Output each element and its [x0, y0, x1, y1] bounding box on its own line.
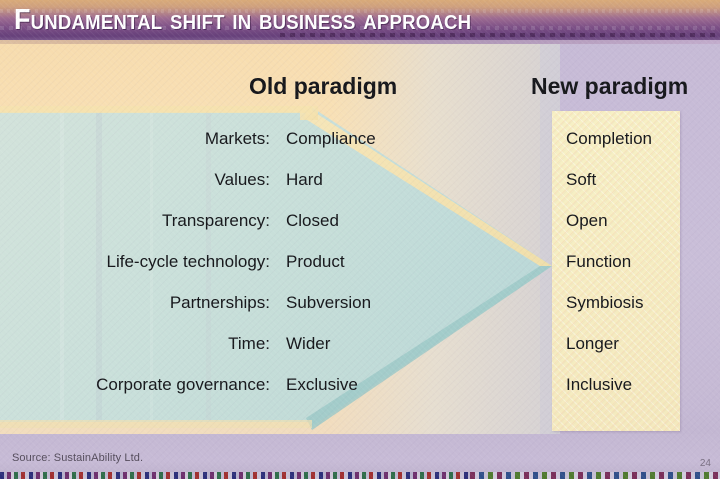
- page-number: 24: [700, 458, 711, 469]
- old-value: Subversion: [286, 282, 371, 323]
- row-label: Values:: [18, 159, 270, 200]
- row-label: Markets:: [18, 118, 270, 159]
- new-value: Inclusive: [566, 375, 632, 394]
- old-value: Compliance: [286, 118, 376, 159]
- old-paradigm-table: Markets: Compliance Values: Hard Transpa…: [18, 118, 438, 405]
- table-row: Function: [566, 241, 716, 282]
- new-paradigm-table: Completion Soft Open Function Symbiosis …: [566, 118, 716, 405]
- bottom-color-strip-right: [470, 472, 720, 479]
- old-value: Closed: [286, 200, 339, 241]
- old-value: Wider: [286, 323, 330, 364]
- row-label: Partnerships:: [18, 282, 270, 323]
- new-value: Longer: [566, 334, 619, 353]
- slide: Fundamental shift in business approach O…: [0, 0, 720, 479]
- table-row: Corporate governance: Exclusive: [18, 364, 438, 405]
- new-value: Symbiosis: [566, 293, 643, 312]
- new-value: Soft: [566, 170, 596, 189]
- table-row: Inclusive: [566, 364, 716, 405]
- page-title: Fundamental shift in business approach: [14, 4, 471, 37]
- table-row: Transparency: Closed: [18, 200, 438, 241]
- column-heading-new: New paradigm: [531, 73, 688, 100]
- table-row: Partnerships: Subversion: [18, 282, 438, 323]
- table-row: Open: [566, 200, 716, 241]
- new-value: Open: [566, 211, 608, 230]
- old-value: Exclusive: [286, 364, 358, 405]
- column-heading-old: Old paradigm: [249, 73, 397, 100]
- row-label: Corporate governance:: [18, 364, 270, 405]
- table-row: Longer: [566, 323, 716, 364]
- table-row: Life-cycle technology: Product: [18, 241, 438, 282]
- table-row: Soft: [566, 159, 716, 200]
- source-credit: Source: SustainAbility Ltd.: [12, 452, 143, 464]
- new-value: Completion: [566, 129, 652, 148]
- old-value: Product: [286, 241, 345, 282]
- title-underline: [0, 40, 720, 44]
- table-row: Symbiosis: [566, 282, 716, 323]
- row-label: Transparency:: [18, 200, 270, 241]
- table-row: Time: Wider: [18, 323, 438, 364]
- row-label: Time:: [18, 323, 270, 364]
- row-label: Life-cycle technology:: [18, 241, 270, 282]
- table-row: Completion: [566, 118, 716, 159]
- table-row: Markets: Compliance: [18, 118, 438, 159]
- table-row: Values: Hard: [18, 159, 438, 200]
- old-value: Hard: [286, 159, 323, 200]
- new-value: Function: [566, 252, 631, 271]
